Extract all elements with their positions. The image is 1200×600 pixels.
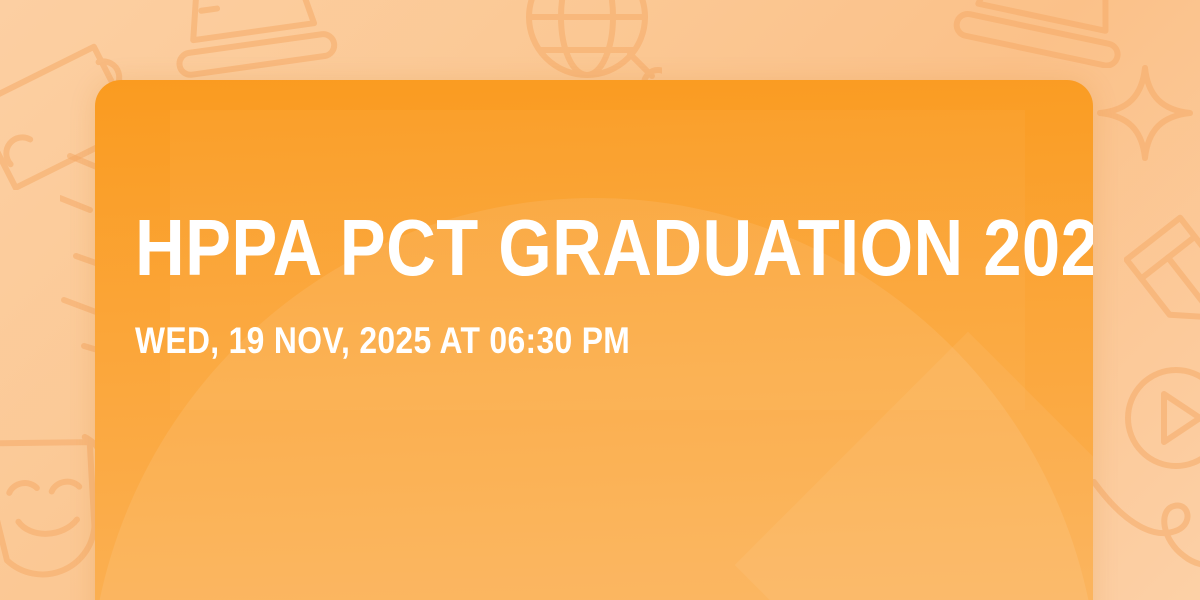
globe-icon xyxy=(512,0,662,92)
sparkle-icon xyxy=(1090,58,1200,168)
ribbon-icon xyxy=(1092,460,1200,600)
event-card: HPPA PCT Graduation 2025 Wed, 19 Nov, 20… xyxy=(95,80,1093,600)
event-poster: HPPA PCT Graduation 2025 Wed, 19 Nov, 20… xyxy=(0,0,1200,600)
podium-icon xyxy=(952,0,1142,68)
event-datetime: Wed, 19 Nov, 2025 at 06:30 PM xyxy=(135,322,924,359)
podium-icon xyxy=(160,0,340,78)
card-text-block: HPPA PCT Graduation 2025 Wed, 19 Nov, 20… xyxy=(135,208,1053,359)
event-title: HPPA PCT Graduation 2025 xyxy=(135,208,924,288)
play-circle-icon xyxy=(1118,360,1200,500)
pencil-icon xyxy=(1124,208,1200,338)
